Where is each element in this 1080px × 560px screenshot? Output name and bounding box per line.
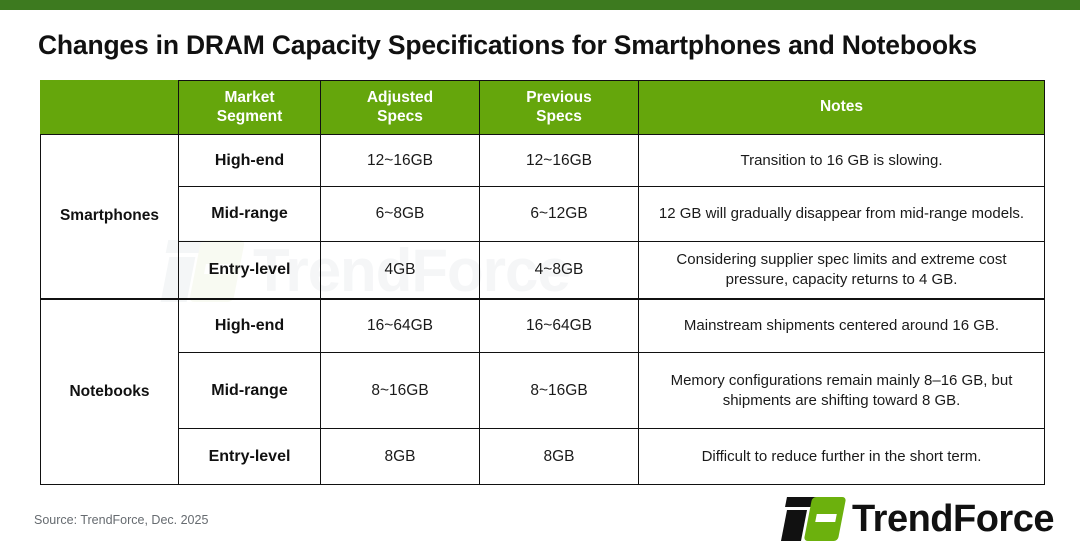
column-header-adjusted-specs-line2: Specs — [377, 108, 423, 125]
previous-spec-cell: 6~12GB — [480, 187, 639, 242]
notes-cell: Memory configurations remain mainly 8–16… — [639, 353, 1045, 429]
column-header-market-segment: Market Segment — [179, 81, 321, 135]
tier-cell: High-end — [179, 135, 321, 187]
previous-spec-cell: 8~16GB — [480, 353, 639, 429]
previous-spec-cell: 12~16GB — [480, 135, 639, 187]
adjusted-spec-cell: 12~16GB — [321, 135, 480, 187]
table-row: Smartphones High-end 12~16GB 12~16GB Tra… — [41, 135, 1045, 187]
table-row: Notebooks High-end 16~64GB 16~64GB Mains… — [41, 299, 1045, 353]
table-row: Entry-level 8GB 8GB Difficult to reduce … — [41, 429, 1045, 485]
trendforce-logo-mark-icon — [784, 497, 842, 541]
notes-cell: Difficult to reduce further in the short… — [639, 429, 1045, 485]
previous-spec-cell: 8GB — [480, 429, 639, 485]
dram-capacity-table: Market Segment Adjusted Specs Previous S… — [40, 80, 1045, 485]
tier-cell: Entry-level — [179, 429, 321, 485]
column-header-adjusted-specs: Adjusted Specs — [321, 81, 480, 135]
adjusted-spec-cell: 8~16GB — [321, 353, 480, 429]
column-header-blank — [41, 81, 179, 135]
previous-spec-cell: 4~8GB — [480, 242, 639, 299]
table-row: Mid-range 8~16GB 8~16GB Memory configura… — [41, 353, 1045, 429]
page-title: Changes in DRAM Capacity Specifications … — [38, 30, 1048, 61]
table-header-row: Market Segment Adjusted Specs Previous S… — [41, 81, 1045, 135]
notes-cell: Mainstream shipments centered around 16 … — [639, 299, 1045, 353]
trendforce-logo-wordmark: TrendForce — [852, 500, 1054, 538]
column-header-adjusted-specs-line1: Adjusted — [367, 89, 433, 106]
column-header-market-segment-line2: Segment — [217, 108, 282, 125]
tier-cell: Mid-range — [179, 353, 321, 429]
source-attribution: Source: TrendForce, Dec. 2025 — [34, 513, 208, 527]
adjusted-spec-cell: 4GB — [321, 242, 480, 299]
table-row: Mid-range 6~8GB 6~12GB 12 GB will gradua… — [41, 187, 1045, 242]
adjusted-spec-cell: 16~64GB — [321, 299, 480, 353]
table-header: Market Segment Adjusted Specs Previous S… — [41, 81, 1045, 135]
adjusted-spec-cell: 6~8GB — [321, 187, 480, 242]
segment-cell-notebooks: Notebooks — [41, 299, 179, 485]
column-header-notes: Notes — [639, 81, 1045, 135]
segment-cell-smartphones: Smartphones — [41, 135, 179, 299]
table-row: Entry-level 4GB 4~8GB Considering suppli… — [41, 242, 1045, 299]
table-body: Smartphones High-end 12~16GB 12~16GB Tra… — [41, 135, 1045, 485]
notes-cell: Considering supplier spec limits and ext… — [639, 242, 1045, 299]
notes-cell: Transition to 16 GB is slowing. — [639, 135, 1045, 187]
column-header-previous-specs: Previous Specs — [480, 81, 639, 135]
notes-cell: 12 GB will gradually disappear from mid-… — [639, 187, 1045, 242]
column-header-previous-specs-line2: Specs — [536, 108, 582, 125]
trendforce-logo: TrendForce — [784, 495, 1054, 543]
column-header-previous-specs-line1: Previous — [526, 89, 591, 106]
previous-spec-cell: 16~64GB — [480, 299, 639, 353]
tier-cell: Entry-level — [179, 242, 321, 299]
tier-cell: Mid-range — [179, 187, 321, 242]
tier-cell: High-end — [179, 299, 321, 353]
adjusted-spec-cell: 8GB — [321, 429, 480, 485]
dram-capacity-table-container: Market Segment Adjusted Specs Previous S… — [40, 80, 1045, 475]
top-accent-bar — [0, 0, 1080, 10]
column-header-market-segment-line1: Market — [225, 89, 275, 106]
